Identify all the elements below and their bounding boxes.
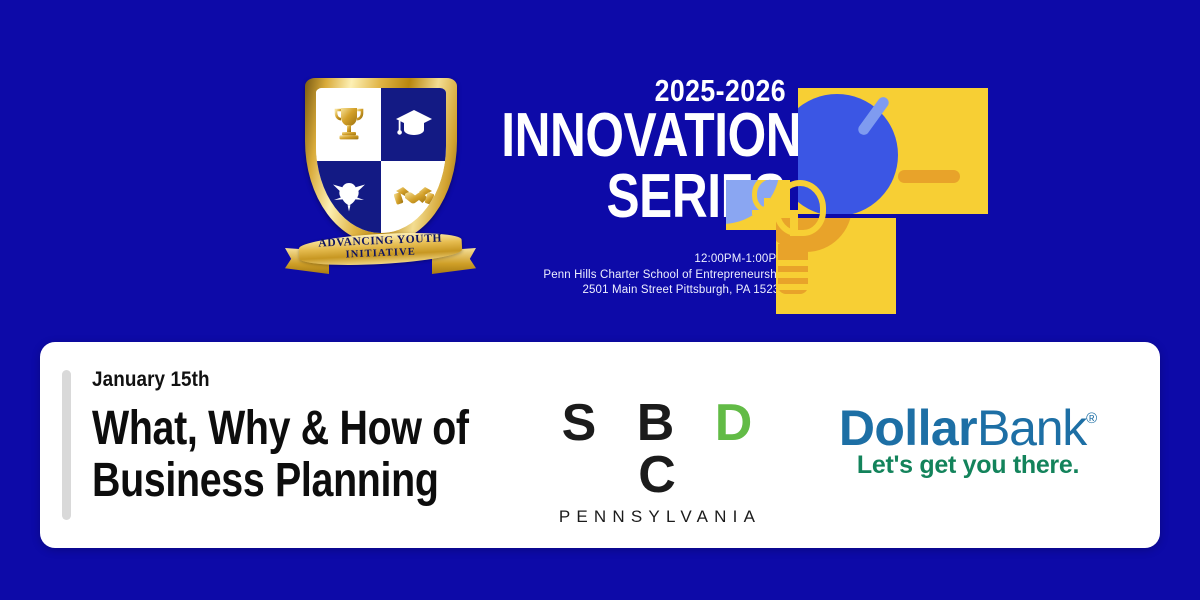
dollar-bank-wordmark: DollarBank®	[818, 392, 1118, 455]
bulb-base-thread-2	[776, 272, 810, 278]
registered-trademark-icon: ®	[1086, 410, 1097, 427]
bulb-base-thread-3	[776, 284, 810, 290]
bulb-outline-ring	[774, 180, 826, 236]
event-banner: ADVANCING YOUTH INITIATIVE 2025-2026 INN…	[0, 0, 1200, 600]
shield-quadrant-eagle	[316, 161, 381, 234]
sbdc-letters-post: C	[638, 446, 689, 504]
bulb-base-thread-1	[776, 260, 810, 266]
sbdc-letters: S B D C	[537, 397, 777, 501]
dollar-bank-logo: DollarBank® Let's get you there.	[818, 392, 1118, 480]
trophy-icon	[332, 105, 366, 143]
shield-inner-field	[316, 88, 446, 233]
sbdc-subtitle: PENNSYLVANIA	[537, 507, 777, 527]
handshake-icon	[394, 183, 434, 211]
eagle-icon	[331, 180, 367, 214]
session-info: January 15th What, Why & How of Business…	[92, 368, 512, 509]
dollar-bank-word-bold: Dollar	[839, 400, 977, 456]
bulb-outline-stem	[790, 210, 798, 236]
session-title-line-2: Business Planning	[92, 453, 436, 509]
orange-dash-shape	[898, 170, 960, 183]
graduation-cap-icon	[395, 108, 433, 140]
sbdc-letter-d: D	[715, 394, 766, 452]
session-card: January 15th What, Why & How of Business…	[40, 342, 1160, 548]
session-title-line-1: What, Why & How of	[92, 401, 436, 457]
shield-quadrant-trophy	[316, 88, 381, 161]
sbdc-letters-pre: S B	[562, 394, 715, 452]
session-date: January 15th	[92, 368, 470, 392]
dollar-bank-word-light: Bank	[977, 400, 1086, 456]
yellow-panel-top	[798, 88, 988, 214]
card-accent-bar	[62, 370, 71, 520]
dollar-bank-tagline: Let's get you there.	[818, 451, 1118, 480]
banner-top-section: ADVANCING YOUTH INITIATIVE 2025-2026 INN…	[0, 0, 1200, 340]
lightbulb-graphic	[726, 88, 988, 306]
sbdc-logo: S B D C PENNSYLVANIA	[537, 397, 777, 527]
